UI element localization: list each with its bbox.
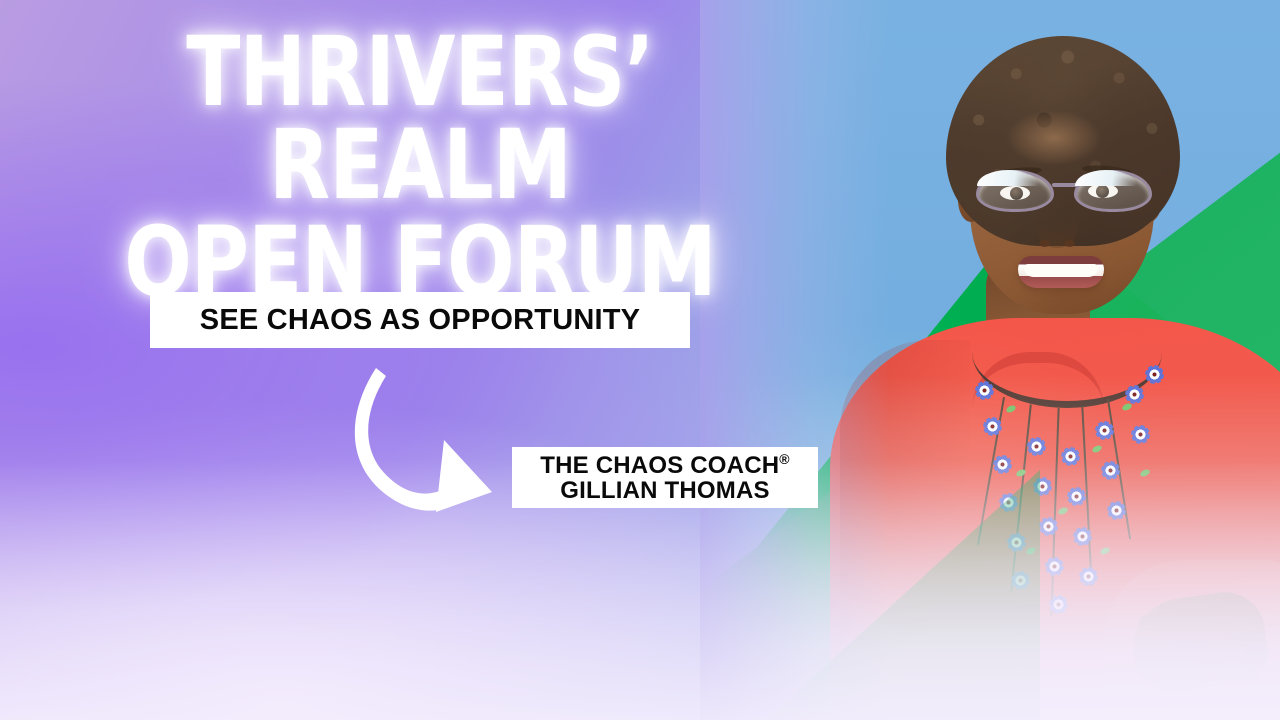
credit-line-2: GILLIAN THOMAS <box>560 479 769 504</box>
credit-role: THE CHAOS COACH <box>540 452 779 479</box>
tagline-text: SEE CHAOS AS OPPORTUNITY <box>200 304 640 337</box>
curved-arrow-icon <box>340 362 520 527</box>
page-title: THRIVERS’ REALM OPEN FORUM <box>34 26 807 309</box>
tagline-banner: SEE CHAOS AS OPPORTUNITY <box>150 292 690 348</box>
credit-line-1: THE CHAOS COACH® <box>540 452 789 479</box>
credit-banner: THE CHAOS COACH® GILLIAN THOMAS <box>512 447 818 508</box>
headline-line-1: THRIVERS’ REALM <box>34 26 807 212</box>
promo-banner-canvas: THRIVERS’ REALM OPEN FORUM SEE CHAOS AS … <box>0 0 1280 720</box>
registered-trademark-icon: ® <box>779 451 789 467</box>
